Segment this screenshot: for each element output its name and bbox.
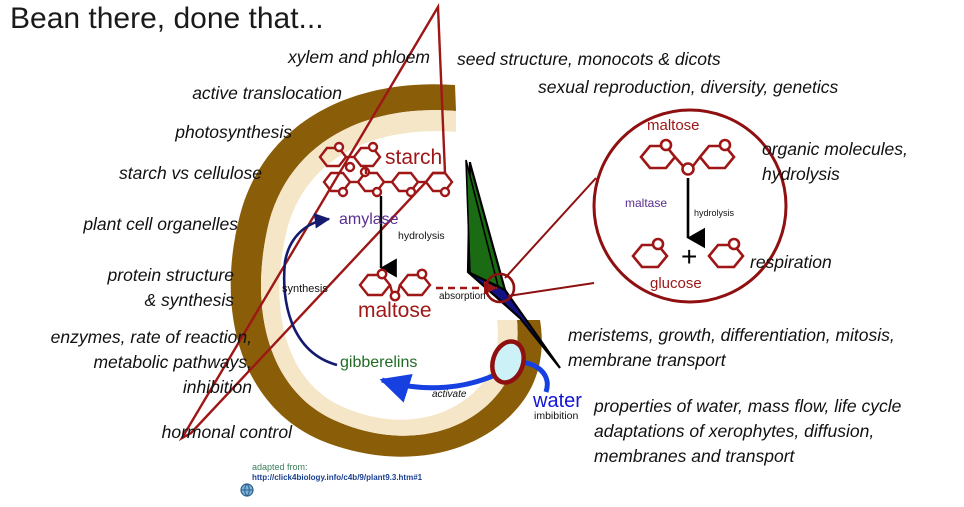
syllabus-label-plant-cell-organelles: plant cell organelles [0,212,238,237]
syllabus-label-starch-cellulose: starch vs cellulose [0,161,262,186]
absorption-label: absorption [439,291,486,302]
inset-hydrolysis-label: hydrolysis [694,208,734,218]
syllabus-label-seed-structure: seed structure, monocots & dicots [457,47,721,72]
inset-plus-sign: + [681,243,697,271]
syllabus-label-protein-structure: protein structure & synthesis [0,263,234,313]
attribution-prefix: adapted from: [252,462,308,472]
amylase-label: amylase [339,211,399,229]
syllabus-label-photosynthesis: photosynthesis [0,120,292,145]
syllabus-label-active-translocation: active translocation [0,81,342,106]
syllabus-label-meristems: meristems, growth, differentiation, mito… [568,323,895,373]
magnifier-leader-lines [505,178,596,296]
hydrolysis-label: hydrolysis [398,230,445,242]
syllabus-label-properties-of-water: properties of water, mass flow, life cyc… [594,394,901,469]
embryo-plumule [466,160,505,290]
globe-icon [241,484,253,496]
syllabus-label-sexual-reproduction: sexual reproduction, diversity, genetics [538,75,838,100]
syllabus-label-respiration: respiration [750,250,832,275]
syllabus-label-xylem-phloem: xylem and phloem [0,45,430,70]
gibberelins-label: gibberelins [340,354,417,372]
attribution-url[interactable]: http://click4biology.info/c4b/9/plant9.3… [252,473,422,482]
starch-label: starch [385,146,442,170]
syllabus-label-enzymes: enzymes, rate of reaction, metabolic pat… [0,325,252,400]
imbibition-label: imbibition [534,410,578,422]
maltose-label: maltose [358,299,432,323]
synthesis-label: synthesis [282,283,328,295]
inset-glucose-label: glucose [650,275,702,292]
syllabus-label-organic-molecules: organic molecules, hydrolysis [762,137,908,187]
activate-label: activate [432,389,466,400]
syllabus-label-hormonal-control: hormonal control [0,420,292,445]
inset-maltase-label: maltase [625,196,667,210]
slide-canvas: Bean there, done that... [0,0,964,507]
inset-maltose-label: maltose [647,117,700,134]
